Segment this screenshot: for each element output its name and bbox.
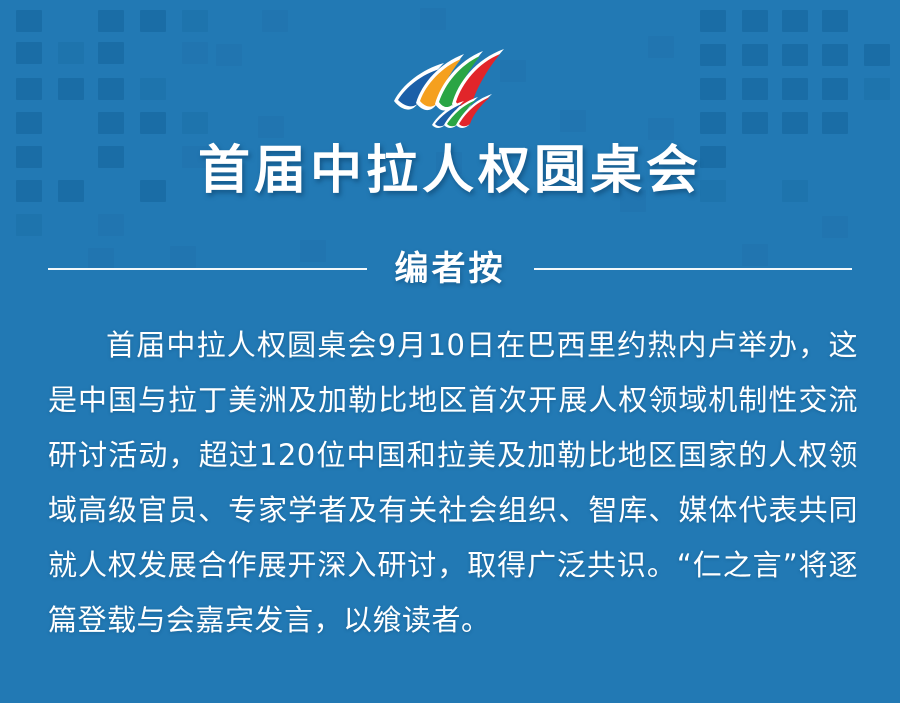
body-paragraph: 首届中拉人权圆桌会9月10日在巴西里约热内卢举办，这是中国与拉丁美洲及加勒比地区…: [48, 318, 858, 648]
divider-line-right: [534, 268, 853, 270]
editor-note-label: 编者按: [367, 249, 534, 289]
page-title: 首届中拉人权圆桌会: [0, 140, 900, 202]
editor-note-band: 编者按: [48, 240, 852, 298]
roundtable-emblem-icon: [388, 45, 512, 129]
divider-line-left: [48, 268, 367, 270]
logo-container: [0, 44, 900, 130]
editor-note-body: 首届中拉人权圆桌会9月10日在巴西里约热内卢举办，这是中国与拉丁美洲及加勒比地区…: [48, 318, 858, 648]
poster-canvas: 首届中拉人权圆桌会 编者按 首届中拉人权圆桌会9月10日在巴西里约热内卢举办，这…: [0, 0, 900, 703]
